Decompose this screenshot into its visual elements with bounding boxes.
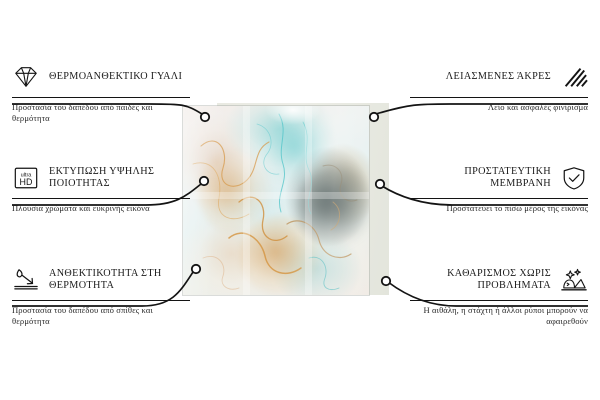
feature-description: Προστασία του δαπέδου από παιδές και θερ… [12,102,190,123]
feature-title: ΠΡΟΣΤΑΤΕΥΤΙΚΗ ΜΕΜΒΡΑΝΗ [410,166,551,191]
feature-description: Η αιθάλη, η στάχτη ή άλλοι ρύποι μπορούν… [410,305,588,326]
feature-divider [12,198,190,199]
feature-heading: ΘΕΡΜΟΑΝΘΕΚΤΙΚΟ ΓΥΑΛΙ [12,62,190,92]
feature-divider [410,198,588,199]
feature-description: Λείο και ασφαλές φινίρισμα [410,102,588,113]
feature-title: ΑΝΘΕΚΤΙΚΟΤΗΤΑ ΣΤΗ ΘΕΡΜΟΤΗΤΑ [49,268,190,293]
feature-heat-durability: ΑΝΘΕΚΤΙΚΟΤΗΤΑ ΣΤΗ ΘΕΡΜΟΤΗΤΑ Προστασία το… [12,265,190,326]
feature-title: ΕΚΤΥΠΩΣΗ ΥΨΗΛΗΣ ΠΟΙΟΤΗΤΑΣ [49,166,190,191]
feature-heading: ΚΑΘΑΡΙΣΜΟΣ ΧΩΡΙΣ ΠΡΟΒΛΗΜΑΤΑ [410,265,588,295]
feature-title: ΛΕΙΑΣΜΕΝΕΣ ΆΚΡΕΣ [446,71,551,83]
feature-heading: ultra HD ΕΚΤΥΠΩΣΗ ΥΨΗΛΗΣ ΠΟΙΟΤΗΤΑΣ [12,163,190,193]
feature-heading: ΠΡΟΣΤΑΤΕΥΤΙΚΗ ΜΕΜΒΡΑΝΗ [410,163,588,193]
feature-description: Προστατεύει το πίσω μέρος της εικόνας [410,203,588,214]
infographic-stage: ΘΕΡΜΟΑΝΘΕΚΤΙΚΟ ΓΥΑΛΙ Προστασία του δαπέδ… [0,0,600,400]
feature-divider [12,300,190,301]
feature-polished-edges: ΛΕΙΑΣΜΕΝΕΣ ΆΚΡΕΣ Λείο και ασφαλές φινίρι… [410,62,588,113]
feature-divider [410,97,588,98]
feature-heat-resistant-glass: ΘΕΡΜΟΑΝΘΕΚΤΙΚΟ ΓΥΑΛΙ Προστασία του δαπέδ… [12,62,190,123]
diamond-icon [12,64,40,90]
diagonal-stripes-icon [560,64,588,90]
feature-title: ΘΕΡΜΟΑΝΘΕΚΤΙΚΟ ΓΥΑΛΙ [49,71,182,83]
glass-panel-artwork [183,106,369,295]
ultra-hd-large-label: HD [20,177,33,187]
glass-sheen [183,106,369,295]
ultra-hd-icon: ultra HD [12,165,40,191]
feature-heading: ΑΝΘΕΚΤΙΚΟΤΗΤΑ ΣΤΗ ΘΕΡΜΟΤΗΤΑ [12,265,190,295]
feature-high-quality-print: ultra HD ΕΚΤΥΠΩΣΗ ΥΨΗΛΗΣ ΠΟΙΟΤΗΤΑΣ Πλούσ… [12,163,190,214]
feature-heading: ΛΕΙΑΣΜΕΝΕΣ ΆΚΡΕΣ [410,62,588,92]
flame-deflect-icon [12,267,40,293]
sparkle-clean-icon [560,267,588,293]
product-image [183,106,389,298]
feature-divider [12,97,190,98]
shield-check-icon [560,165,588,191]
feature-title: ΚΑΘΑΡΙΣΜΟΣ ΧΩΡΙΣ ΠΡΟΒΛΗΜΑΤΑ [410,268,551,293]
feature-easy-cleaning: ΚΑΘΑΡΙΣΜΟΣ ΧΩΡΙΣ ΠΡΟΒΛΗΜΑΤΑ Η αιθάλη, η … [410,265,588,326]
feature-protective-membrane: ΠΡΟΣΤΑΤΕΥΤΙΚΗ ΜΕΜΒΡΑΝΗ Προστατεύει το πί… [410,163,588,214]
feature-description: Προστασία του δαπέδου από σπίθες και θερ… [12,305,190,326]
feature-divider [410,300,588,301]
feature-description: Πλούσια χρώματα και ευκρινής εικόνα [12,203,190,214]
